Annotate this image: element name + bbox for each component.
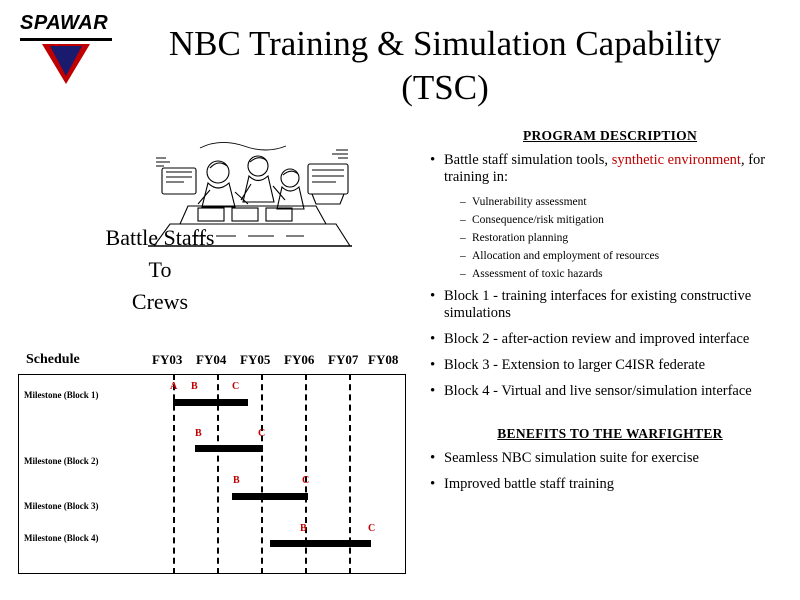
program-bullet-1: • Battle staff simulation tools, synthet…: [430, 152, 790, 186]
sub-item: – Restoration planning: [460, 231, 790, 246]
marker-block1-b: B: [191, 381, 198, 392]
row-label-block3: Milestone (Block 3): [24, 501, 99, 511]
schedule-chart: Schedule FY03 FY04 FY05 FY06 FY07 FY08 M…: [18, 348, 408, 576]
illustration-caption: Battle Staffs To Crews: [30, 222, 290, 318]
bullet-1-pre: Battle staff simulation tools,: [444, 152, 612, 168]
sub-item-label: Vulnerability assessment: [472, 195, 587, 210]
dash-icon: –: [460, 213, 472, 228]
bullet-dot-icon: •: [430, 476, 444, 493]
caption-line3: Crews: [30, 286, 290, 318]
program-bullet-4-text: Block 3 - Extension to larger C4ISR fede…: [444, 357, 790, 374]
program-bullet-3-text: Block 2 - after-action review and improv…: [444, 331, 790, 348]
bar-block3: [232, 493, 308, 500]
program-bullet-3: • Block 2 - after-action review and impr…: [430, 331, 790, 348]
sub-item-label: Allocation and employment of resources: [472, 249, 659, 264]
sub-item-label: Consequence/risk mitigation: [472, 213, 604, 228]
sub-item-label: Assessment of toxic hazards: [472, 267, 603, 282]
program-bullet-2: • Block 1 - training interfaces for exis…: [430, 288, 790, 322]
caption-line1: Battle Staffs: [30, 222, 290, 254]
program-bullet-1-text: Battle staff simulation tools, synthetic…: [444, 152, 790, 186]
page-title-line1: NBC Training & Simulation Capability: [110, 22, 780, 66]
bullet-dot-icon: •: [430, 357, 444, 374]
fy-label-fy07: FY07: [328, 352, 358, 368]
marker-block1-a: A: [170, 381, 177, 392]
program-description-heading: PROGRAM DESCRIPTION: [430, 128, 790, 144]
marker-block4-c: C: [368, 523, 375, 534]
bullet-dot-icon: •: [430, 152, 444, 169]
spawar-logo: SPAWAR: [18, 12, 114, 90]
bullet-dot-icon: •: [430, 331, 444, 348]
marker-block3-b: B: [233, 475, 240, 486]
bar-block2: [195, 445, 263, 452]
right-content-column: PROGRAM DESCRIPTION • Battle staff simul…: [430, 128, 790, 502]
row-label-block1: Milestone (Block 1): [24, 390, 99, 400]
program-sub-list: – Vulnerability assessment – Consequence…: [460, 195, 790, 282]
sub-item: – Consequence/risk mitigation: [460, 213, 790, 228]
bar-block4: [270, 540, 371, 547]
fy-label-fy06: FY06: [284, 352, 314, 368]
dash-icon: –: [460, 249, 472, 264]
page-title-line2: (TSC): [110, 66, 780, 110]
row-label-block2: Milestone (Block 2): [24, 456, 99, 466]
fy-divider-3: [261, 374, 263, 574]
bullet-dot-icon: •: [430, 450, 444, 467]
sub-item: – Allocation and employment of resources: [460, 249, 790, 264]
fy-label-fy04: FY04: [196, 352, 226, 368]
benefits-bullet-1-text: Seamless NBC simulation suite for exerci…: [444, 450, 790, 467]
bullet-dot-icon: •: [430, 383, 444, 400]
program-bullet-2-text: Block 1 - training interfaces for existi…: [444, 288, 790, 322]
program-bullet-4: • Block 3 - Extension to larger C4ISR fe…: [430, 357, 790, 374]
bullet-1-accent: synthetic environment: [612, 152, 741, 168]
page-title: NBC Training & Simulation Capability (TS…: [110, 22, 780, 110]
benefits-bullet-2: • Improved battle staff training: [430, 476, 790, 493]
bullet-dot-icon: •: [430, 288, 444, 305]
program-bullet-5: • Block 4 - Virtual and live sensor/simu…: [430, 383, 790, 400]
schedule-title: Schedule: [26, 352, 80, 368]
benefits-bullet-1: • Seamless NBC simulation suite for exer…: [430, 450, 790, 467]
sub-item: – Assessment of toxic hazards: [460, 267, 790, 282]
logo-triangle-inner-icon: [50, 46, 82, 76]
dash-icon: –: [460, 195, 472, 210]
caption-line2: To: [30, 254, 290, 286]
row-label-block4: Milestone (Block 4): [24, 533, 99, 543]
slide: SPAWAR NBC Training & Simulation Capabil…: [0, 0, 800, 600]
logo-wordmark: SPAWAR: [20, 12, 108, 35]
logo-rule: [20, 38, 112, 41]
marker-block4-b: B: [300, 523, 307, 534]
marker-block3-c: C: [302, 475, 309, 486]
fy-label-fy05: FY05: [240, 352, 270, 368]
fy-label-fy03: FY03: [152, 352, 182, 368]
fy-label-fy08: FY08: [368, 352, 398, 368]
benefits-section: BENEFITS TO THE WARFIGHTER • Seamless NB…: [430, 426, 790, 493]
bar-block1: [173, 399, 248, 406]
marker-block1-c: C: [232, 381, 239, 392]
dash-icon: –: [460, 267, 472, 282]
benefits-heading: BENEFITS TO THE WARFIGHTER: [430, 426, 790, 442]
marker-block2-b: B: [195, 428, 202, 439]
benefits-bullet-2-text: Improved battle staff training: [444, 476, 790, 493]
sub-item-label: Restoration planning: [472, 231, 568, 246]
dash-icon: –: [460, 231, 472, 246]
sub-item: – Vulnerability assessment: [460, 195, 790, 210]
marker-block2-c: C: [258, 428, 265, 439]
program-bullet-5-text: Block 4 - Virtual and live sensor/simula…: [444, 383, 790, 400]
